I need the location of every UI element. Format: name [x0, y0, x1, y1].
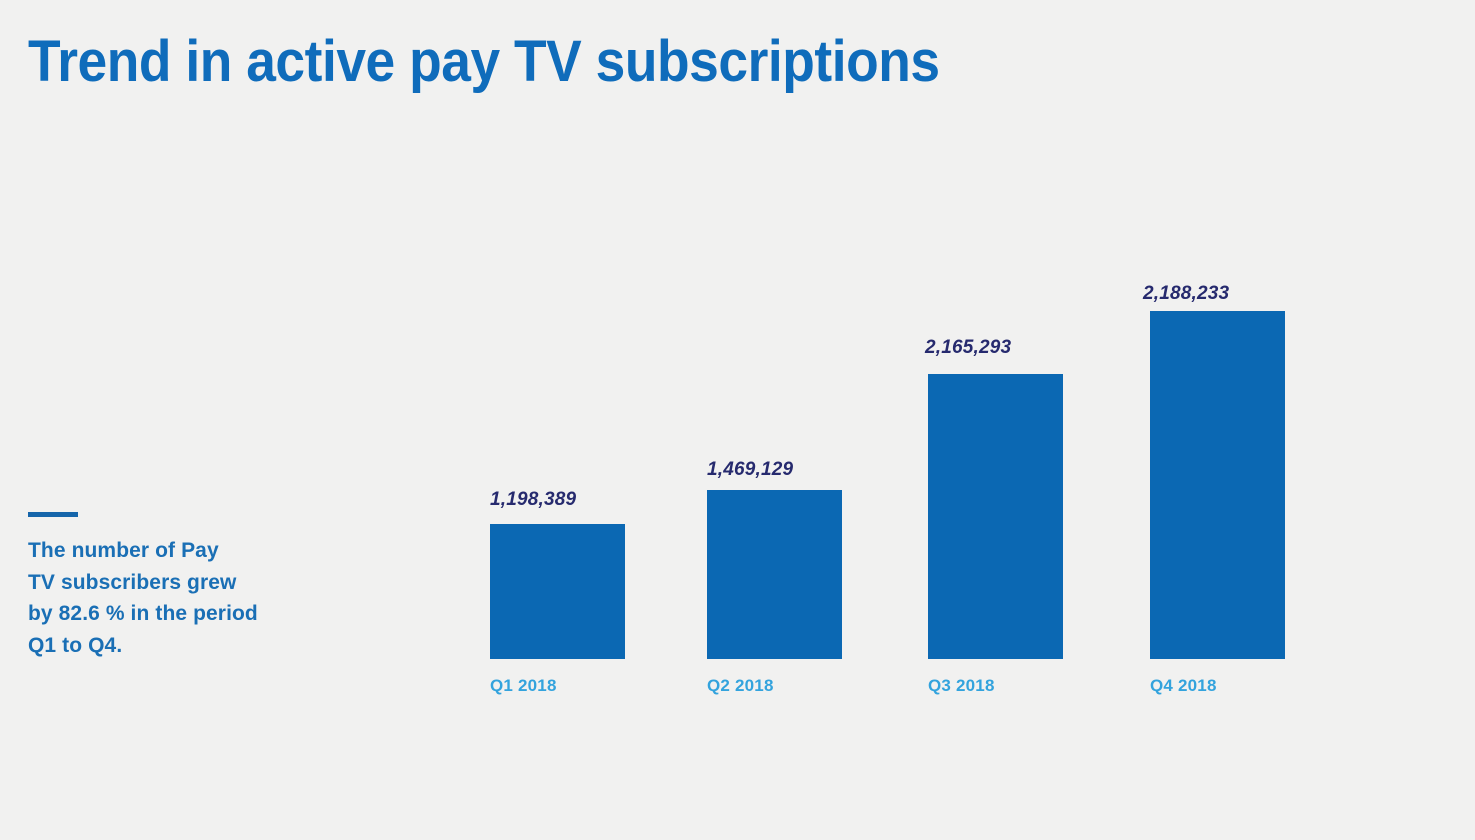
category-label-q4-2018: Q4 2018	[1150, 676, 1217, 696]
bar-q2-2018	[707, 490, 842, 659]
bar-q3-2018	[928, 374, 1063, 659]
bar-q1-2018	[490, 524, 625, 659]
bar-q4-2018	[1150, 311, 1285, 659]
bar-value-label-q2-2018: 1,469,129	[707, 459, 793, 481]
bar-value-label-q3-2018: 2,165,293	[925, 337, 1011, 359]
bar-chart-plot-area: 1,198,389 Q1 2018 1,469,129 Q2 2018 2,16…	[0, 0, 1475, 840]
bar-value-label-q1-2018: 1,198,389	[490, 489, 576, 511]
category-label-q2-2018: Q2 2018	[707, 676, 774, 696]
category-label-q1-2018: Q1 2018	[490, 676, 557, 696]
chart-slide: Trend in active pay TV subscriptions The…	[0, 0, 1475, 840]
bar-value-label-q4-2018: 2,188,233	[1143, 283, 1229, 305]
category-label-q3-2018: Q3 2018	[928, 676, 995, 696]
